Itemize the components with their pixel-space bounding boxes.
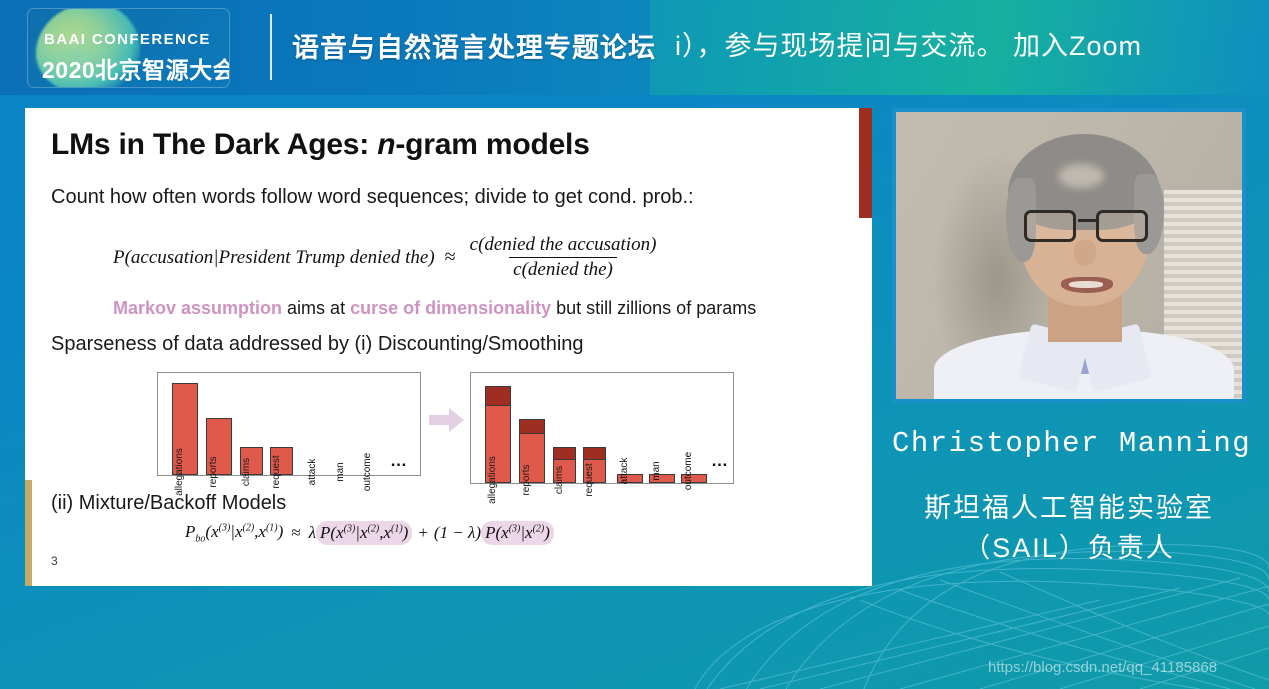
bar-allegations: allegations [172,383,198,475]
bar-outcome: outcome [681,474,707,483]
formula2-lhs-args: x(3)|x(2),x(1) [211,522,278,541]
ngram-probability-formula: P(accusation|President Trump denied the)… [113,234,660,281]
conference-banner: BAAI CONFERENCE 2020北京智源大会 语音与自然语言处理专题论坛… [0,0,1269,95]
slide-line-count: Count how often words follow word sequen… [51,186,694,209]
bar-discount-top [583,447,606,459]
bar-man: man [649,474,675,483]
slide-line-sparseness: Sparseness of data addressed by (i) Disc… [51,333,584,356]
bar-label: reports [521,464,532,495]
presentation-slide[interactable]: LMs in The Dark Ages: n-gram models Coun… [25,108,872,586]
baai-logo: BAAI CONFERENCE 2020北京智源大会 [27,8,230,88]
bar-label: outcome [362,453,373,491]
banner-divider [270,14,272,80]
bar-label: reports [208,456,219,487]
bar-label: claims [241,458,252,486]
slide-line-mixture: (ii) Mixture/Backoff Models [51,492,286,515]
bar-request: request [583,448,606,483]
formula2-bigram-term: P(x(3)|x(2)) [481,521,554,545]
formula1-denominator: c(denied the) [509,257,617,281]
chart-smoothed-counts: allegations reports claims [470,372,734,484]
curse-term: curse of dimensionality [350,298,551,318]
bar-discount-top [485,386,511,405]
bar-discount-top [519,419,545,433]
markov-term: Markov assumption [113,298,282,318]
bar-label: request [584,463,595,496]
video-player-stage: BAAI CONFERENCE 2020北京智源大会 语音与自然语言处理专题论坛… [0,0,1269,689]
formula1-fraction: c(denied the accusation) c(denied the) [466,234,661,281]
speaker-affiliation-line1: 斯坦福人工智能实验室 [892,486,1246,525]
glasses-lens-left [1024,210,1076,242]
formula1-numerator: c(denied the accusation) [466,234,661,257]
bar-label: attack [307,459,318,486]
slide-page-number: 3 [51,554,58,568]
bar-claims: claims [240,447,263,475]
bar-ellipsis: … [711,451,730,471]
bar-discount-top [553,447,576,459]
bar-reports: reports [519,420,545,483]
bar-ellipsis: … [390,451,409,471]
formula2-lhs: Pbo(x(3)|x(2),x(1)) [185,522,283,544]
bar-man: man [336,474,356,475]
speaker-name: Christopher Manning [892,427,1246,460]
chart-raw-counts: allegations reports claims request [157,372,421,476]
chart-raw-bars: allegations reports claims request [158,373,420,475]
bar-label: allegations [487,456,498,504]
bar-label: allegations [174,448,185,496]
slide-title: LMs in The Dark Ages: n-gram models [51,128,590,162]
formula1-approx: ≈ [445,246,456,269]
formula2-approx: ≈ [291,523,300,543]
speaker-nose [1074,240,1096,266]
slide-content: LMs in The Dark Ages: n-gram models Coun… [25,108,859,586]
slide-scrollbar[interactable] [859,108,872,586]
bar-label: man [335,462,346,481]
bar-attack: attack [308,474,328,475]
formula2-lhs-symbol: P [185,522,195,541]
watermark: https://blog.csdn.net/qq_41185868 [988,659,1217,676]
slide-title-plain: LMs in The Dark Ages: [51,128,377,161]
logo-line-chinese: 2020北京智源大会 [42,51,230,85]
bar-request: request [270,447,293,475]
forum-title: 语音与自然语言处理专题论坛 [292,26,656,65]
formula2-lhs-subscript: bo [195,533,205,544]
slide-title-tail: -gram models [395,128,589,161]
speaker-mouth [1061,277,1113,293]
bar-label: man [651,461,662,480]
bar-label: request [271,455,282,488]
slide-scrollbar-thumb[interactable] [859,108,872,218]
glasses-lens-right [1096,210,1148,242]
bar-label: attack [619,458,630,485]
bar-reports: reports [206,418,232,475]
formula1-left: P(accusation|President Trump denied the) [113,247,435,269]
markov-mid: aims at [282,298,350,318]
announcement-marquee: i），参与现场提问与交流。 加入Zoom [675,24,1142,63]
transform-arrow-icon [429,407,465,433]
formula2-trigram-term: P(x(3)|x(2),x(1)) [316,521,412,545]
glasses-bridge [1078,219,1096,222]
speaker-glasses [1022,210,1150,244]
markov-tail: but still zillions of params [551,298,756,318]
bar-outcome: outcome [363,474,383,475]
speaker-forehead-highlight [1058,164,1104,188]
chart-smoothed-bars: allegations reports claims [471,373,733,483]
speaker-video[interactable] [892,108,1246,403]
logo-line-english: BAAI CONFERENCE [44,31,224,48]
speaker-teeth [1069,281,1103,288]
formula2-plus: + [418,523,428,543]
backoff-formula: Pbo(x(3)|x(2),x(1)) ≈ λ P(x(3)|x(2),x(1)… [185,521,554,545]
bar-label: outcome [683,452,694,490]
speaker-affiliation-line2: （SAIL）负责人 [892,526,1246,565]
bar-attack: attack [617,474,643,483]
bar-label: claims [554,466,565,494]
formula2-lambda: λ [309,523,316,543]
formula2-one-minus-lambda: (1 − λ) [434,523,481,543]
markov-assumption-line: Markov assumption aims at curse of dimen… [113,298,756,319]
bar-allegations: allegations [485,387,511,483]
bar-claims: claims [553,448,576,483]
slide-title-italic: n [377,128,395,161]
